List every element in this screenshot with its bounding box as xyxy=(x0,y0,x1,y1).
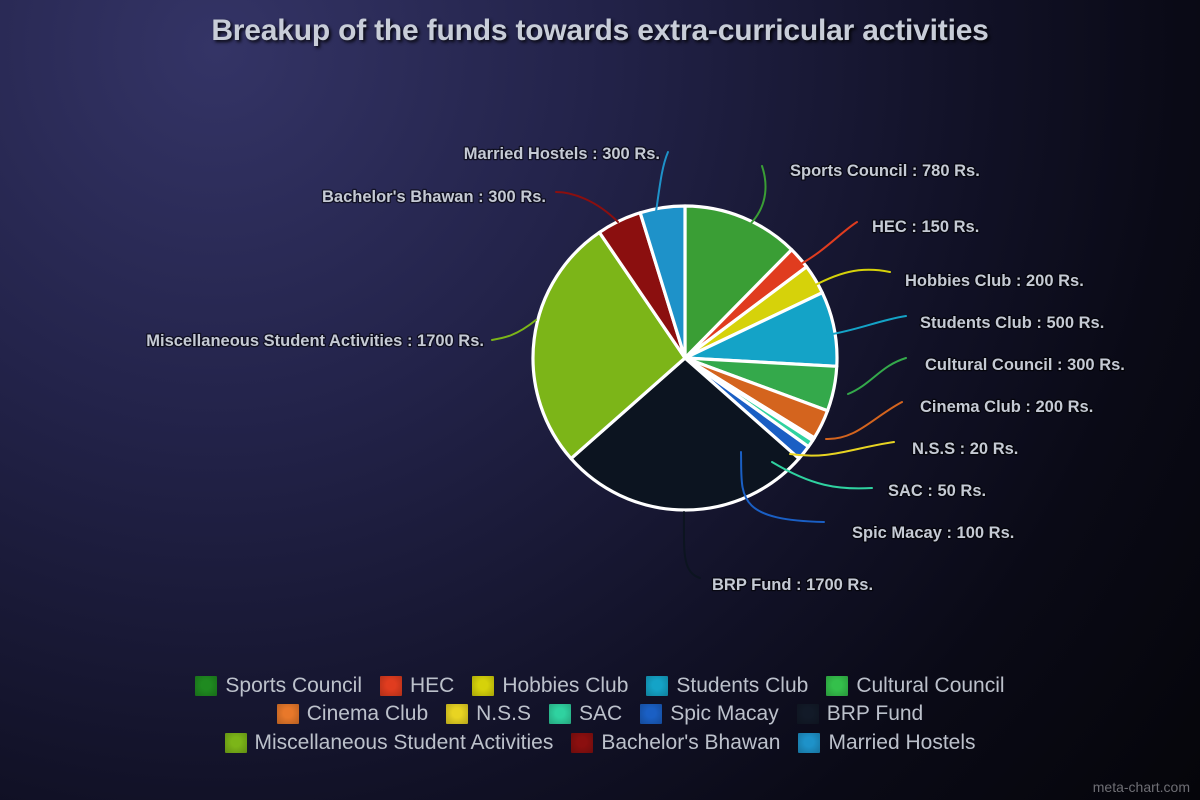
legend-row: Sports CouncilHECHobbies ClubStudents Cl… xyxy=(0,672,1200,700)
legend-swatch-icon xyxy=(571,733,593,753)
legend-swatch-icon xyxy=(798,733,820,753)
legend-swatch-icon xyxy=(640,704,662,724)
legend: Sports CouncilHECHobbies ClubStudents Cl… xyxy=(0,672,1200,757)
legend-item[interactable]: N.S.S xyxy=(446,700,531,728)
legend-label: Married Hostels xyxy=(828,729,975,757)
legend-swatch-icon xyxy=(380,676,402,696)
legend-swatch-icon xyxy=(195,676,217,696)
legend-item[interactable]: BRP Fund xyxy=(797,700,924,728)
legend-item[interactable]: Miscellaneous Student Activities xyxy=(225,729,554,757)
callout-line xyxy=(797,222,857,266)
legend-label: Hobbies Club xyxy=(502,672,628,700)
pie-chart-area: Sports Council : 780 Rs.HEC : 150 Rs.Hob… xyxy=(0,0,1200,640)
pie-slices-group xyxy=(533,206,837,510)
legend-item[interactable]: Students Club xyxy=(646,672,808,700)
callout-line xyxy=(684,512,700,578)
slice-callout-label: Bachelor's Bhawan : 300 Rs. xyxy=(322,188,546,206)
legend-row: Miscellaneous Student ActivitiesBachelor… xyxy=(0,729,1200,757)
legend-label: Cultural Council xyxy=(856,672,1004,700)
legend-item[interactable]: HEC xyxy=(380,672,454,700)
slice-callout-label: Miscellaneous Student Activities : 1700 … xyxy=(146,332,484,350)
legend-item[interactable]: Hobbies Club xyxy=(472,672,628,700)
callout-line xyxy=(826,402,902,439)
slice-callout-label: Hobbies Club : 200 Rs. xyxy=(905,272,1084,290)
slice-callout-label: N.S.S : 20 Rs. xyxy=(912,440,1018,458)
slice-callout-label: Cultural Council : 300 Rs. xyxy=(925,356,1125,374)
legend-item[interactable]: SAC xyxy=(549,700,622,728)
slice-callout-label: Spic Macay : 100 Rs. xyxy=(852,524,1014,542)
legend-item[interactable]: Cultural Council xyxy=(826,672,1004,700)
legend-item[interactable]: Married Hostels xyxy=(798,729,975,757)
legend-swatch-icon xyxy=(472,676,494,696)
slice-callout-label: HEC : 150 Rs. xyxy=(872,218,979,236)
legend-label: Cinema Club xyxy=(307,700,428,728)
legend-label: Bachelor's Bhawan xyxy=(601,729,780,757)
legend-swatch-icon xyxy=(225,733,247,753)
legend-item[interactable]: Bachelor's Bhawan xyxy=(571,729,780,757)
legend-swatch-icon xyxy=(646,676,668,696)
legend-item[interactable]: Cinema Club xyxy=(277,700,428,728)
slice-callout-label: SAC : 50 Rs. xyxy=(888,482,986,500)
legend-item[interactable]: Spic Macay xyxy=(640,700,779,728)
legend-label: Students Club xyxy=(676,672,808,700)
slice-callout-label: Students Club : 500 Rs. xyxy=(920,314,1104,332)
legend-label: HEC xyxy=(410,672,454,700)
chart-page: Breakup of the funds towards extra-curri… xyxy=(0,0,1200,800)
pie-chart-svg: Sports Council : 780 Rs.HEC : 150 Rs.Hob… xyxy=(0,0,1200,640)
legend-label: BRP Fund xyxy=(827,700,924,728)
slice-callout-label: Cinema Club : 200 Rs. xyxy=(920,398,1093,416)
callout-line xyxy=(827,316,906,335)
legend-swatch-icon xyxy=(797,704,819,724)
slice-callout-label: BRP Fund : 1700 Rs. xyxy=(712,576,873,594)
legend-item[interactable]: Sports Council xyxy=(195,672,362,700)
legend-label: Sports Council xyxy=(225,672,362,700)
callout-line xyxy=(848,358,906,394)
slice-callout-label: Married Hostels : 300 Rs. xyxy=(464,145,660,163)
legend-row: Cinema ClubN.S.SSACSpic MacayBRP Fund xyxy=(0,700,1200,728)
legend-label: N.S.S xyxy=(476,700,531,728)
legend-label: Miscellaneous Student Activities xyxy=(255,729,554,757)
legend-swatch-icon xyxy=(826,676,848,696)
legend-swatch-icon xyxy=(549,704,571,724)
callout-line xyxy=(556,192,618,222)
legend-label: Spic Macay xyxy=(670,700,779,728)
legend-swatch-icon xyxy=(277,704,299,724)
slice-callout-label: Sports Council : 780 Rs. xyxy=(790,162,980,180)
legend-swatch-icon xyxy=(446,704,468,724)
callout-line xyxy=(492,320,536,340)
watermark: meta-chart.com xyxy=(1093,779,1190,795)
legend-label: SAC xyxy=(579,700,622,728)
